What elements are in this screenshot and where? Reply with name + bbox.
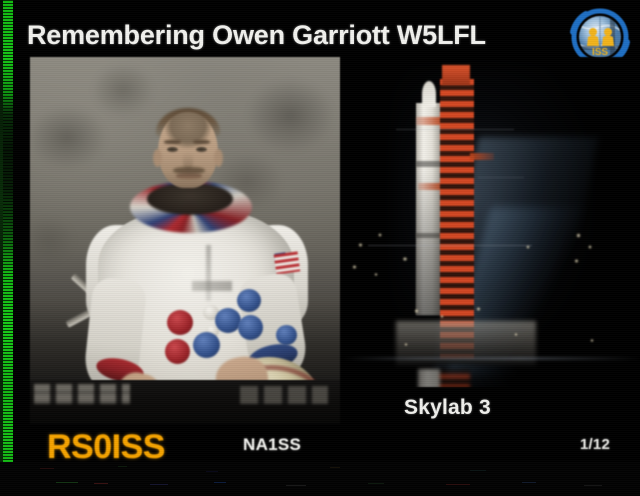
suit-connector-red xyxy=(167,310,193,335)
service-gantry-tower xyxy=(440,79,474,359)
sstv-sync-stripe xyxy=(3,0,13,496)
sstv-image-frame: Remembering Owen Garriott W5LFL xyxy=(0,0,640,496)
astronaut-figure xyxy=(30,57,340,424)
callsign-secondary: NA1SS xyxy=(243,435,301,455)
water-reflection xyxy=(344,361,640,387)
owen-garriott-portrait-photo xyxy=(30,57,340,424)
page-title: Remembering Owen Garriott W5LFL xyxy=(27,20,557,52)
mission-caption: Skylab 3 xyxy=(404,396,491,420)
page-counter: 1/12 xyxy=(580,436,610,453)
rf-noise-band xyxy=(0,462,640,496)
saturn-ib-launch-pad-photo xyxy=(344,57,640,387)
flag-patch xyxy=(274,251,301,274)
